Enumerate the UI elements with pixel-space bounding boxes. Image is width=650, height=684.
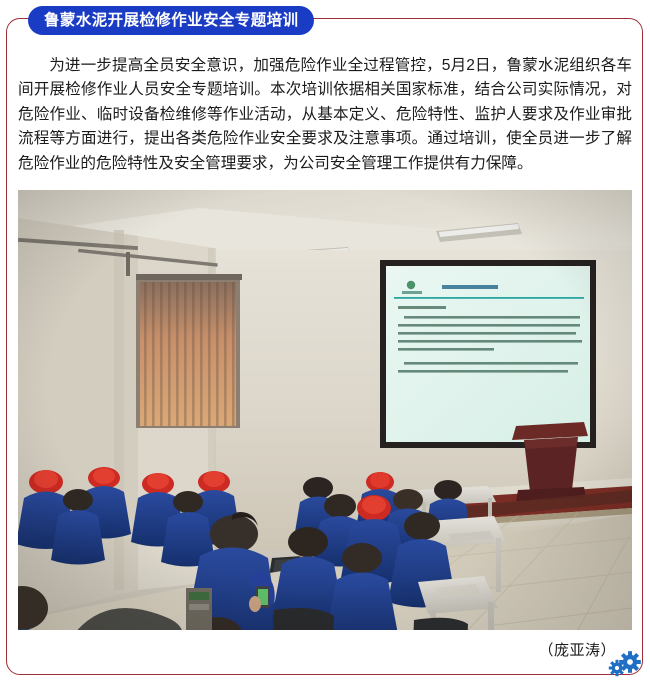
article-byline: （庞亚涛）: [538, 639, 616, 660]
article-title-badge: 鲁蒙水泥开展检修作业安全专题培训: [28, 6, 314, 35]
gears-icon-svg: [608, 649, 642, 677]
article-body-text: 为进一步提高全员安全意识，加强危险作业全过程管控，5月2日，鲁蒙水泥组织各车间开…: [18, 54, 632, 177]
gears-icon: [608, 649, 642, 677]
photo-illustration: [18, 190, 632, 630]
training-session-photo: [18, 190, 632, 630]
page-title: 鲁蒙水泥开展检修作业安全专题培训: [44, 13, 298, 29]
